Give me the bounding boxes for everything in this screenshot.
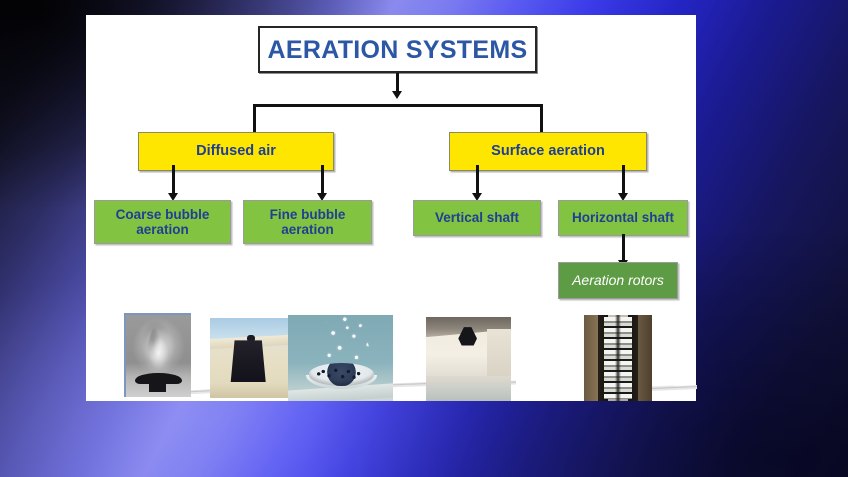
node-diffused-air[interactable]: Diffused air (138, 132, 334, 171)
slide-stage: AERATION SYSTEMS Diffused air Surface ae… (0, 0, 848, 477)
connector-horizontal-to-rotors (622, 234, 625, 262)
node-vertical-shaft[interactable]: Vertical shaft (413, 200, 541, 236)
photo-vertical-shaft-aerator (426, 317, 511, 401)
node-horizontal-shaft[interactable]: Horizontal shaft (558, 200, 688, 236)
connector-title-down (396, 73, 399, 93)
connector-diffused-to-coarse (172, 165, 175, 195)
basin-wall-shape (487, 329, 511, 378)
page-title: AERATION SYSTEMS (268, 36, 528, 64)
node-coarse-bubble-aeration-label: Coarse bubble aeration (116, 207, 210, 237)
photo-fine-bubble-diffuser (288, 315, 393, 401)
rotor-spine-shape (615, 315, 620, 401)
connector-surface-to-horizontal (622, 165, 625, 195)
node-vertical-shaft-label: Vertical shaft (435, 210, 519, 225)
slide-canvas: AERATION SYSTEMS Diffused air Surface ae… (86, 15, 696, 401)
bubble-plume-shape (311, 315, 376, 368)
connector-diffused-to-fine (321, 165, 324, 195)
node-fine-bubble-aeration[interactable]: Fine bubble aeration (243, 200, 372, 244)
node-aeration-rotors[interactable]: Aeration rotors (558, 262, 678, 299)
photo-horizontal-rotor (584, 315, 652, 401)
node-fine-bubble-aeration-label: Fine bubble aeration (270, 207, 346, 237)
node-surface-aeration-label: Surface aeration (491, 143, 605, 159)
connector-split-bus (253, 104, 543, 107)
floor-shape (210, 382, 288, 398)
curtain-shape (230, 340, 266, 386)
connector-surface-to-vertical (476, 165, 479, 195)
node-diffused-air-label: Diffused air (196, 143, 276, 159)
photo-diffuser-curtain (210, 318, 288, 398)
basin-water-shape (426, 376, 511, 401)
node-coarse-bubble-aeration[interactable]: Coarse bubble aeration (94, 200, 231, 244)
node-aeration-rotors-label: Aeration rotors (572, 273, 664, 289)
diffuser-media-shape (313, 367, 370, 382)
plume-shape (138, 322, 180, 373)
arrowhead-title-down (392, 91, 402, 99)
photo-coarse-bubble-plume (124, 313, 191, 397)
diagram-title-box: AERATION SYSTEMS (258, 26, 537, 73)
node-horizontal-shaft-label: Horizontal shaft (572, 210, 674, 225)
channel-right-shape (637, 315, 652, 401)
plume-pedestal-shape (149, 382, 166, 392)
